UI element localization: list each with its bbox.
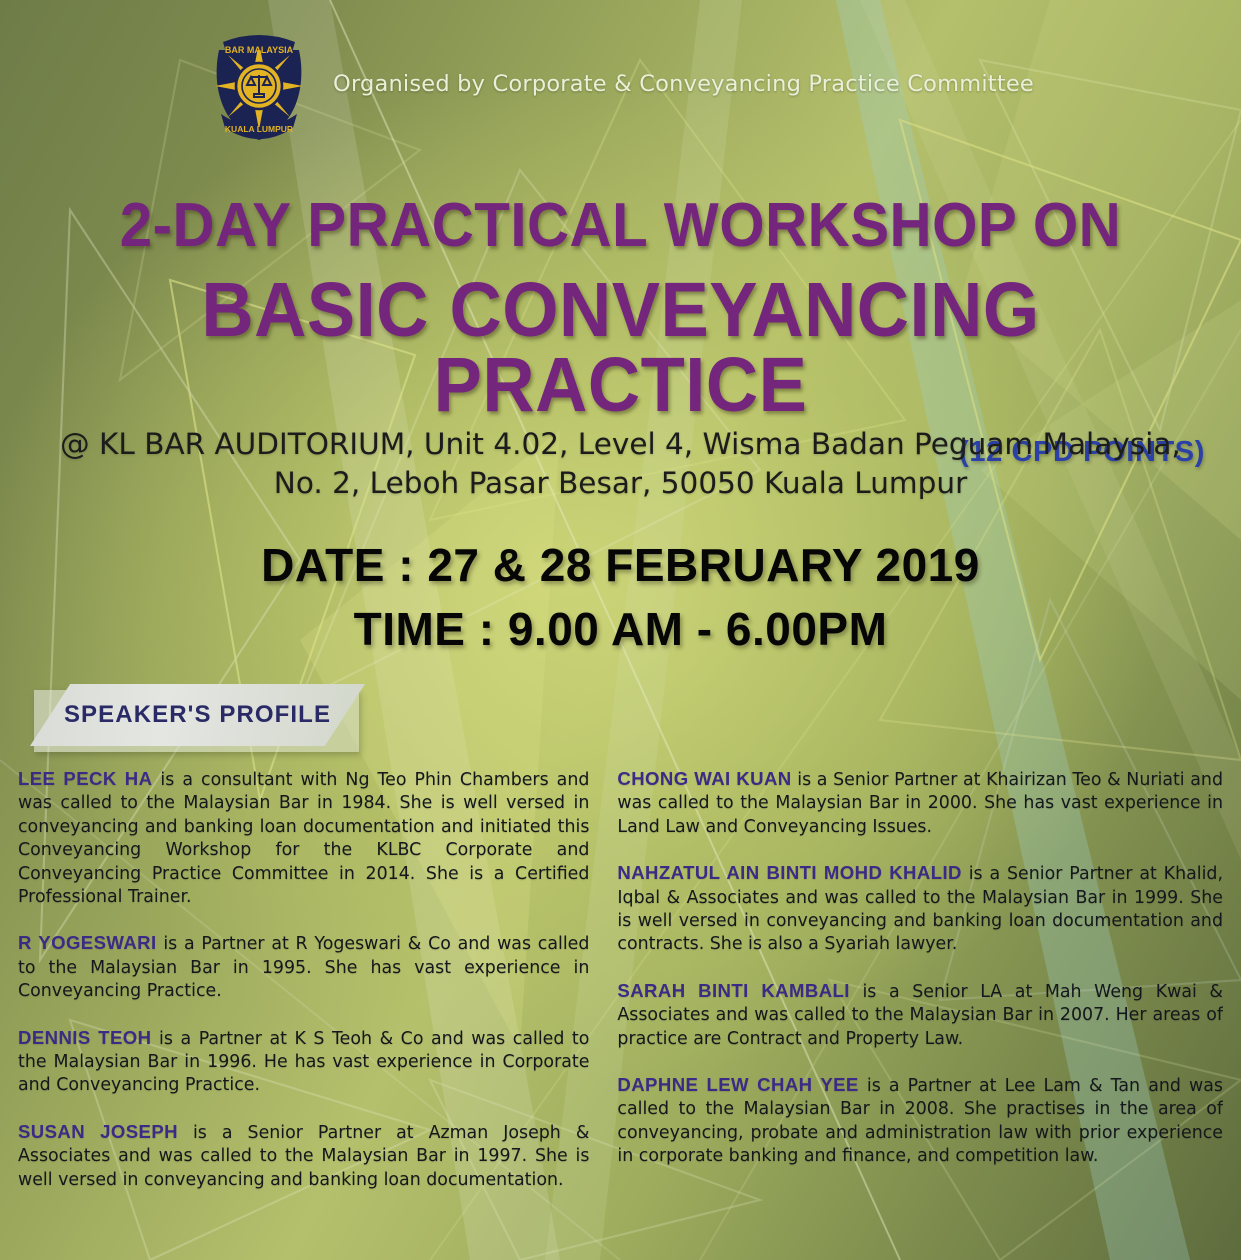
speakers-column-left: LEE PECK HA is a consultant with Ng Teo … <box>18 766 589 1260</box>
banner-parallelogram: SPEAKER'S PROFILE <box>30 684 365 746</box>
speaker-name: CHONG WAI KUAN <box>617 768 791 789</box>
speaker-profiles: LEE PECK HA is a consultant with Ng Teo … <box>18 766 1223 1260</box>
speaker-name: SUSAN JOSEPH <box>18 1121 178 1142</box>
venue-line-1: @ KL BAR AUDITORIUM, Unit 4.02, Level 4,… <box>0 425 1241 464</box>
schedule-block: DATE : 27 & 28 FEBRUARY 2019 TIME : 9.00… <box>0 537 1241 657</box>
speaker-bio: NAHZATUL AIN BINTI MOHD KHALID is a Seni… <box>617 860 1223 957</box>
speaker-name: LEE PECK HA <box>18 768 152 789</box>
speaker-name: DENNIS TEOH <box>18 1027 152 1048</box>
event-date: DATE : 27 & 28 FEBRUARY 2019 <box>0 537 1241 593</box>
speakers-profile-banner: SPEAKER'S PROFILE <box>30 684 365 754</box>
speaker-bio: SUSAN JOSEPH is a Senior Partner at Azma… <box>18 1119 589 1192</box>
organised-by-text: Organised by Corporate & Conveyancing Pr… <box>333 71 1034 97</box>
speaker-name: R YOGESWARI <box>18 932 157 953</box>
speaker-bio: DAPHNE LEW CHAH YEE is a Partner at Lee … <box>617 1072 1223 1169</box>
speaker-name: SARAH BINTI KAMBALI <box>617 980 849 1001</box>
speaker-bio: DENNIS TEOH is a Partner at K S Teoh & C… <box>18 1025 589 1098</box>
speakers-column-right: CHONG WAI KUAN is a Senior Partner at Kh… <box>617 766 1223 1260</box>
poster-canvas: BAR MALAYSIA KUALA LUMPUR Organised by C… <box>0 0 1241 1260</box>
title-line-1: 2-DAY PRACTICAL WORKSHOP ON <box>37 196 1204 257</box>
speaker-bio: R YOGESWARI is a Partner at R Yogeswari … <box>18 930 589 1003</box>
svg-text:KUALA LUMPUR: KUALA LUMPUR <box>225 124 293 134</box>
speaker-bio: LEE PECK HA is a consultant with Ng Teo … <box>18 766 589 909</box>
bar-malaysia-logo-icon: BAR MALAYSIA KUALA LUMPUR <box>207 24 311 144</box>
speaker-name: DAPHNE LEW CHAH YEE <box>617 1074 858 1095</box>
header: BAR MALAYSIA KUALA LUMPUR Organised by C… <box>0 24 1241 144</box>
speaker-bio-text: is a consultant with Ng Teo Phin Chamber… <box>18 770 589 907</box>
venue-address: @ KL BAR AUDITORIUM, Unit 4.02, Level 4,… <box>0 425 1241 503</box>
title-line-2: BASIC CONVEYANCING PRACTICE <box>37 273 1204 424</box>
speaker-name: NAHZATUL AIN BINTI MOHD KHALID <box>617 862 961 883</box>
event-time: TIME : 9.00 AM - 6.00PM <box>0 601 1241 657</box>
venue-line-2: No. 2, Leboh Pasar Besar, 50050 Kuala Lu… <box>0 464 1241 503</box>
svg-text:BAR MALAYSIA: BAR MALAYSIA <box>225 45 294 55</box>
speakers-profile-label: SPEAKER'S PROFILE <box>64 701 331 729</box>
speaker-bio: CHONG WAI KUAN is a Senior Partner at Kh… <box>617 766 1223 839</box>
speaker-bio: SARAH BINTI KAMBALI is a Senior LA at Ma… <box>617 978 1223 1051</box>
